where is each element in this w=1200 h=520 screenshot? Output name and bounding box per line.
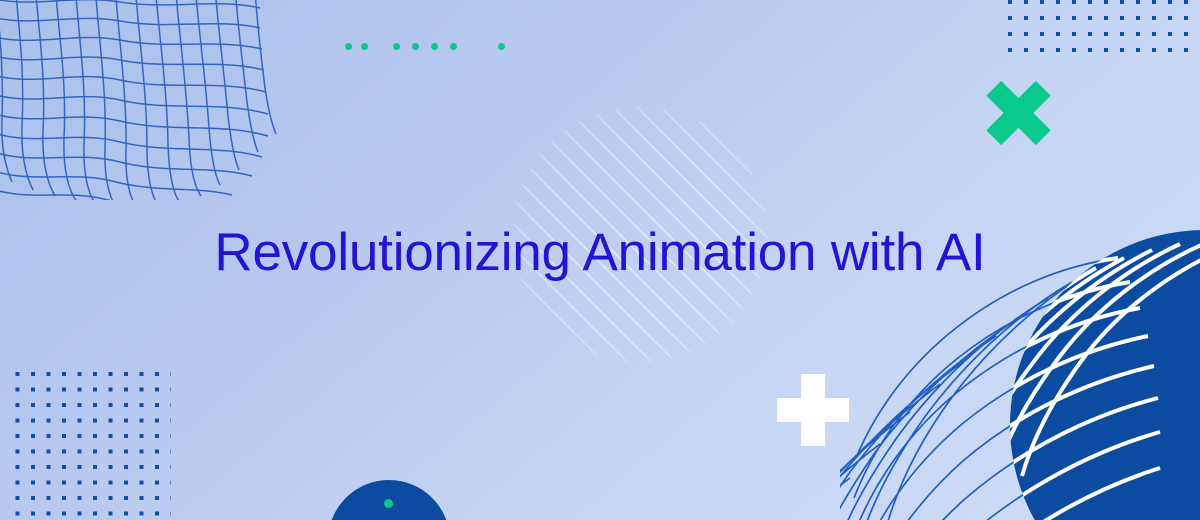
green-dot [450,43,457,50]
banner-root: Revolutionizing Animation with AI [0,0,1200,520]
page-title: Revolutionizing Animation with AI [214,222,985,284]
green-x-icon [988,82,1050,144]
green-dot [361,43,368,50]
bottom-disc-green-dot [384,499,393,508]
plus-stroke-vertical [801,374,825,446]
green-dot [412,43,419,50]
green-dot [345,43,352,50]
green-dot [498,43,505,50]
green-dot [393,43,400,50]
white-plus-icon [777,374,849,446]
title-container: Revolutionizing Animation with AI [0,222,1200,284]
green-dot [431,43,438,50]
